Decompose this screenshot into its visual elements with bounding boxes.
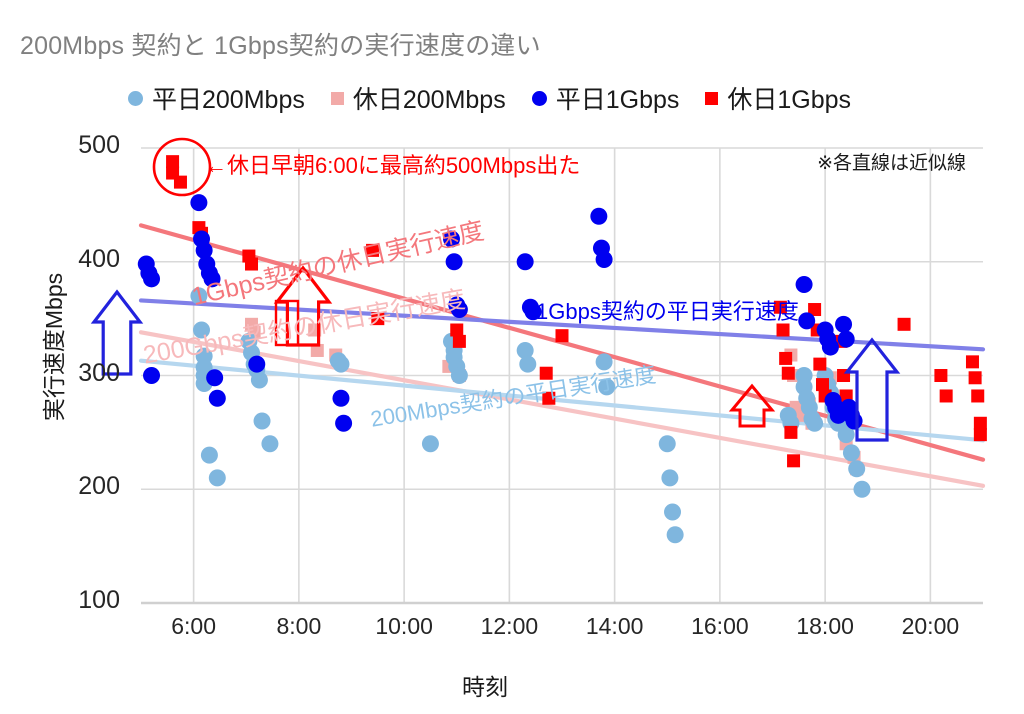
- data-point-circle: [517, 253, 534, 270]
- data-point-square: [174, 176, 187, 189]
- data-point-circle: [853, 481, 870, 498]
- data-point-circle: [201, 447, 218, 464]
- data-point-square: [934, 369, 947, 382]
- annotation-peak-callout: ←休日早朝6:00に最高約500Mbps出た: [205, 148, 580, 180]
- data-point-circle: [519, 356, 536, 373]
- annotation-trend-weekday-1gbps: 1Gbps契約の平日実行速度: [536, 294, 799, 326]
- data-point-circle: [596, 251, 613, 268]
- data-point-square: [556, 329, 569, 342]
- data-point-square: [779, 352, 792, 365]
- data-point-square: [974, 417, 987, 430]
- x-axis-tick: 12:00: [454, 613, 564, 640]
- data-point-circle: [590, 208, 607, 225]
- data-point-circle: [335, 415, 352, 432]
- y-axis-tick: 500: [40, 131, 120, 160]
- y-axis-tick: 200: [40, 472, 120, 501]
- data-point-circle: [822, 339, 839, 356]
- x-axis-tick: 18:00: [770, 613, 880, 640]
- data-point-square: [166, 155, 179, 168]
- data-point-circle: [254, 413, 271, 430]
- x-axis-tick: 14:00: [560, 613, 670, 640]
- x-axis-tick: 6:00: [139, 613, 249, 640]
- x-axis-tick: 8:00: [244, 613, 354, 640]
- data-point-square: [787, 454, 800, 467]
- x-axis-tick: 10:00: [349, 613, 459, 640]
- data-point-circle: [261, 435, 278, 452]
- data-point-circle: [209, 390, 226, 407]
- data-point-square: [450, 324, 463, 337]
- data-point-circle: [332, 390, 349, 407]
- data-point-circle: [667, 526, 684, 543]
- x-axis-tick: 20:00: [875, 613, 985, 640]
- data-point-circle: [209, 469, 226, 486]
- data-point-square: [974, 428, 987, 441]
- data-point-circle: [248, 356, 265, 373]
- data-point-square: [453, 335, 466, 348]
- data-point-square: [971, 389, 984, 402]
- data-point-square: [969, 371, 982, 384]
- x-axis-tick: 16:00: [665, 613, 775, 640]
- data-point-circle: [843, 444, 860, 461]
- data-point-circle: [251, 372, 268, 389]
- data-point-circle: [664, 504, 681, 521]
- data-point-circle: [659, 435, 676, 452]
- data-point-square: [966, 355, 979, 368]
- data-point-circle: [806, 415, 823, 432]
- data-point-circle: [796, 276, 813, 293]
- data-point-circle: [332, 356, 349, 373]
- data-point-circle: [446, 253, 463, 270]
- data-point-circle: [846, 413, 863, 430]
- y-axis-tick: 100: [40, 586, 120, 615]
- data-point-circle: [422, 435, 439, 452]
- data-point-circle: [798, 312, 815, 329]
- data-point-square: [898, 318, 911, 331]
- data-point-square: [816, 378, 829, 391]
- data-point-circle: [838, 331, 855, 348]
- data-point-square: [940, 389, 953, 402]
- data-point-circle: [143, 270, 160, 287]
- y-axis-label: 実行速度Mbps: [35, 247, 69, 447]
- data-point-circle: [848, 460, 865, 477]
- footnote: ※各直線は近似線: [817, 148, 966, 175]
- data-point-circle: [451, 367, 468, 384]
- data-point-circle: [661, 469, 678, 486]
- chart-root: 200Mbps 契約と 1Gbps契約の実行速度の違い 平日200Mbps 休日…: [0, 0, 1024, 714]
- data-point-circle: [835, 316, 852, 333]
- data-point-square: [782, 367, 795, 380]
- data-point-circle: [190, 194, 207, 211]
- data-point-circle: [206, 369, 223, 386]
- x-axis-label: 時刻: [462, 668, 508, 702]
- data-point-square: [784, 426, 797, 439]
- data-point-square: [813, 358, 826, 371]
